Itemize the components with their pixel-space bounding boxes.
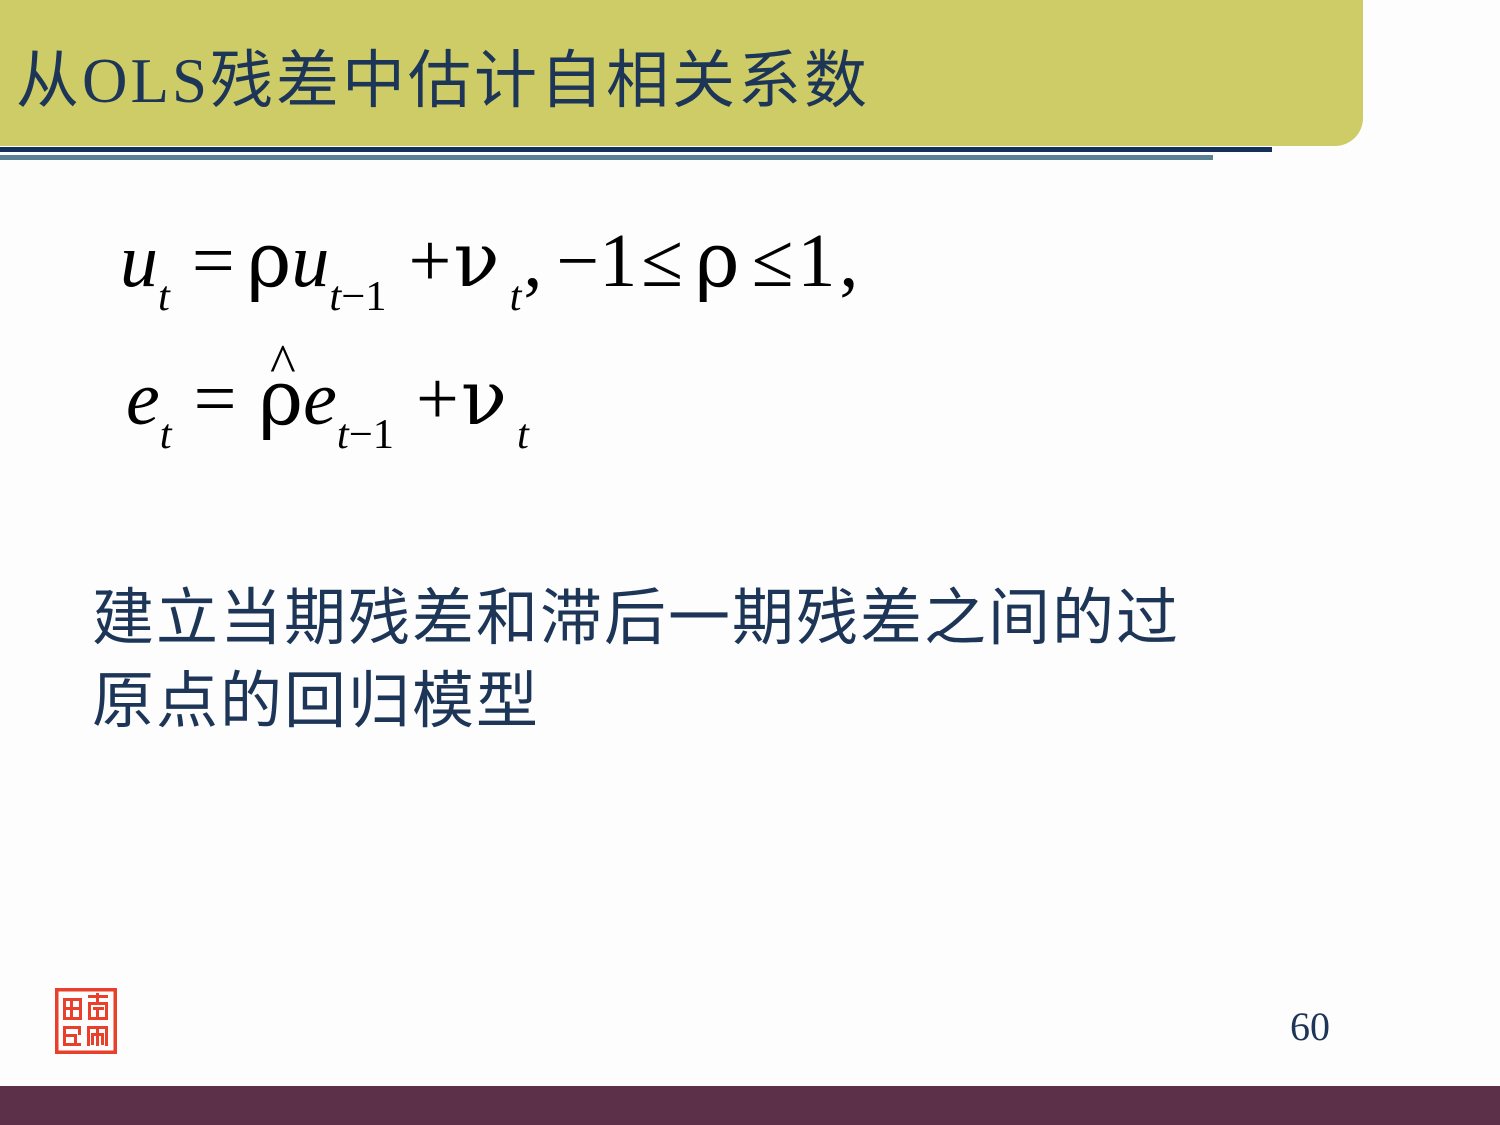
divider-rule-navy bbox=[0, 147, 1272, 152]
formula-equation-1: ut=ρut−1+νt,−1≤ρ≤1, bbox=[120, 222, 1320, 342]
formula2-nu-subscript: t bbox=[517, 411, 529, 458]
formula2-lhs-variable: e bbox=[126, 357, 160, 441]
formula2-rhs-subscript: t−1 bbox=[337, 411, 394, 458]
formula1-rho: ρ bbox=[247, 215, 292, 304]
body-text-block: 建立当期残差和滞后一期残差之间的过 原点的回归模型 bbox=[92, 578, 1422, 744]
formula-block: ut=ρut−1+νt,−1≤ρ≤1, et=^ρet−1+νt bbox=[120, 222, 1320, 480]
formula2-rhs-variable: e bbox=[303, 357, 337, 441]
formula1-rhs-subscript: t−1 bbox=[329, 273, 386, 320]
formula1-trailing-comma: , bbox=[837, 219, 860, 303]
formula2-lhs-subscript: t bbox=[160, 411, 172, 458]
formula1-plus: + bbox=[407, 219, 454, 303]
formula1-leq-left: ≤ bbox=[639, 219, 685, 303]
slide-canvas: 从OLS残差中估计自相关系数 ut=ρut−1+νt,−1≤ρ≤1, et=^ρ… bbox=[0, 0, 1500, 1125]
formula1-rhs-sub-one: 1 bbox=[365, 273, 386, 320]
body-text-line-1: 建立当期残差和滞后一期残差之间的过 bbox=[92, 578, 1422, 661]
formula1-comma: , bbox=[521, 219, 544, 303]
formula-equation-2: et=^ρet−1+νt bbox=[120, 360, 1320, 480]
formula2-nu: ν bbox=[461, 353, 507, 442]
divider-rule-teal bbox=[0, 155, 1213, 160]
formula2-rhs-sub-minus: − bbox=[349, 411, 373, 458]
formula2-plus: + bbox=[414, 357, 461, 441]
formula1-neg-one: −1 bbox=[554, 219, 639, 303]
formula2-equals: = bbox=[192, 357, 239, 441]
formula2-hat-accent: ^ bbox=[270, 337, 296, 392]
formula1-leq-right: ≤ bbox=[750, 219, 796, 303]
formula2-rhs-sub-one: 1 bbox=[373, 411, 394, 458]
formula1-lhs-subscript: t bbox=[158, 273, 170, 320]
seal-stamp-icon bbox=[55, 988, 117, 1054]
formula2-rho-hat: ^ρ bbox=[258, 360, 303, 437]
bottom-accent-bar bbox=[0, 1086, 1500, 1125]
formula1-rhs-variable: u bbox=[291, 219, 329, 303]
formula1-rhs-sub-minus: − bbox=[341, 273, 365, 320]
page-number: 60 bbox=[1290, 1004, 1380, 1050]
formula1-nu-subscript: t bbox=[510, 273, 522, 320]
formula1-one: 1 bbox=[795, 219, 837, 303]
body-text-line-2: 原点的回归模型 bbox=[92, 661, 1422, 744]
formula2-rhs-sub-t: t bbox=[337, 411, 349, 458]
formula1-rhs-sub-t: t bbox=[329, 273, 341, 320]
page-title: 从OLS残差中估计自相关系数 bbox=[16, 36, 1346, 126]
formula1-rho-middle: ρ bbox=[695, 215, 740, 304]
formula1-nu: ν bbox=[453, 215, 499, 304]
formula1-lhs-variable: u bbox=[120, 219, 158, 303]
formula1-equals: = bbox=[190, 219, 237, 303]
